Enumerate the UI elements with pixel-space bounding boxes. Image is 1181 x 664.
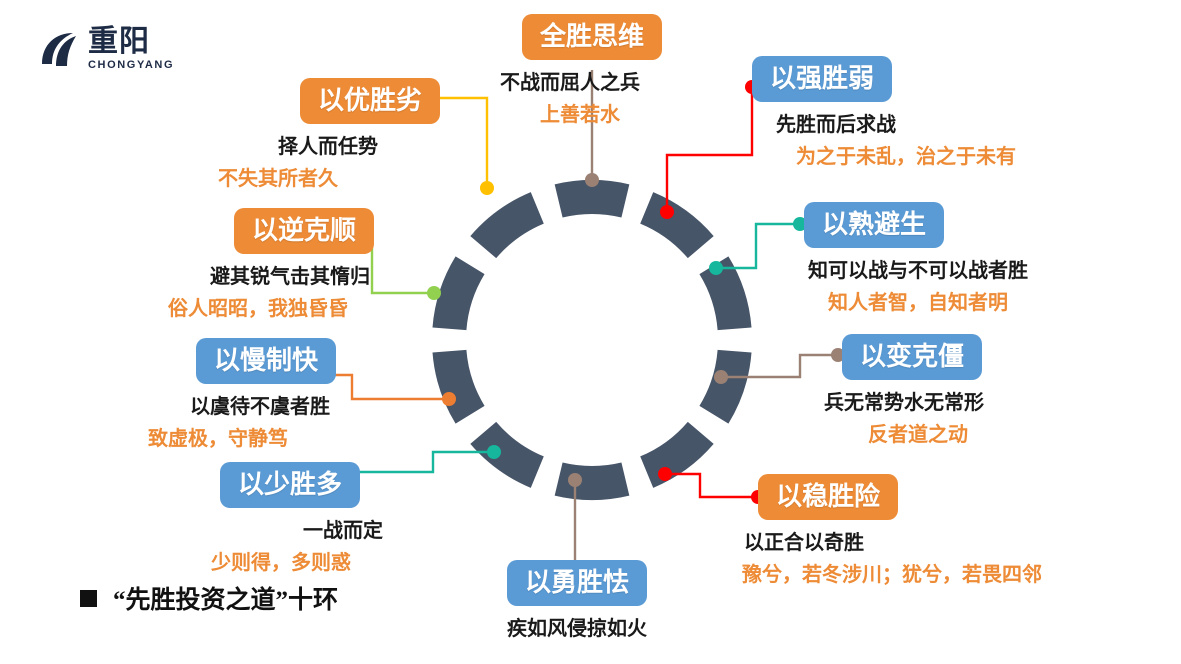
node-title-pill[interactable]: 以少胜多 [220, 462, 360, 508]
ring-segment [432, 350, 484, 424]
node-line2: 反者道之动 [868, 418, 984, 447]
node-yiwen-shengxian[interactable]: 以稳胜险 以正合以奇胜 豫兮，若冬涉川；犹兮，若畏四邻 [742, 474, 1042, 587]
connector-dot [714, 370, 728, 384]
node-title-pill[interactable]: 以慢制快 [196, 338, 336, 384]
node-title-pill[interactable]: 以强胜弱 [752, 56, 892, 102]
ring-segment [640, 422, 713, 488]
connector-dot [487, 445, 501, 459]
connector-dot [585, 173, 599, 187]
connector-dot [480, 181, 494, 195]
caption: “先胜投资之道”十环 [80, 580, 338, 616]
node-line1: 避其锐气击其惰归 [130, 260, 370, 289]
node-title-pill[interactable]: 以逆克顺 [234, 208, 374, 254]
node-line1: 以正合以奇胜 [744, 526, 1042, 555]
node-line2: 豫兮，若冬涉川；犹兮，若畏四邻 [742, 558, 1042, 587]
node-yibian-kejiang[interactable]: 以变克僵 兵无常势水无常形 反者道之动 [824, 334, 984, 447]
node-line1: 兵无常势水无常形 [824, 386, 984, 415]
node-title-pill[interactable]: 全胜思维 [522, 14, 662, 60]
node-quansheng-siwei[interactable]: 全胜思维 不战而屈人之兵 上善若水 [466, 14, 718, 127]
ring-segment [470, 192, 543, 258]
node-title-pill[interactable]: 以变克僵 [842, 334, 982, 380]
ring-segment [470, 422, 543, 488]
connector-dot [660, 205, 674, 219]
node-yiman-zhikuai[interactable]: 以慢制快 以虞待不虞者胜 致虚极，守静笃 [104, 338, 354, 451]
node-yishu-bisheng[interactable]: 以熟避生 知可以战与不可以战者胜 知人者智，自知者明 [796, 202, 1028, 315]
node-line2: 为之于未乱，治之于未有 [796, 140, 1016, 169]
node-yiyong-shengqie[interactable]: 以勇胜怯 疾如风侵掠如火 [462, 560, 692, 641]
ring-segment [699, 350, 751, 424]
ring-segment [555, 463, 630, 500]
node-title-pill[interactable]: 以稳胜险 [758, 474, 898, 520]
node-line2: 少则得，多则惑 [155, 546, 351, 575]
node-yiqiang-shengruo[interactable]: 以强胜弱 先胜而后求战 为之于未乱，治之于未有 [752, 56, 1016, 169]
node-title-pill[interactable]: 以勇胜怯 [507, 560, 647, 606]
node-line2: 知人者智，自知者明 [828, 286, 1028, 315]
node-yiyou-shenglie[interactable]: 以优胜劣 择人而任势 不失其所者久 [198, 78, 448, 191]
node-title-pill[interactable]: 以优胜劣 [300, 78, 440, 124]
node-line1: 知可以战与不可以战者胜 [808, 254, 1028, 283]
node-title-pill[interactable]: 以熟避生 [804, 202, 944, 248]
node-line2: 上善若水 [540, 98, 718, 127]
connector-dot [442, 392, 456, 406]
node-line2: 致虚极，守静笃 [104, 422, 288, 451]
node-yishao-shengduo[interactable]: 以少胜多 一战而定 少则得，多则惑 [155, 462, 405, 575]
node-line2: 不失其所者久 [198, 162, 338, 191]
ring-segment [640, 192, 713, 258]
node-line1: 一战而定 [155, 514, 383, 543]
square-bullet-icon [80, 590, 97, 607]
connector-dot [709, 261, 723, 275]
node-yini-keshun[interactable]: 以逆克顺 避其锐气击其惰归 俗人昭昭，我独昏昏 [130, 208, 374, 321]
node-line1: 择人而任势 [198, 130, 378, 159]
caption-text: “先胜投资之道”十环 [113, 580, 338, 616]
connector-dot [658, 467, 672, 481]
connector-dot [427, 286, 441, 300]
node-line1: 以虞待不虞者胜 [104, 390, 330, 419]
node-line1: 疾如风侵掠如火 [462, 612, 692, 641]
diagram-canvas: 重阳 CHONGYANG 全胜思维 不战而屈人之兵 上善若水 以强胜弱 先胜而后… [0, 0, 1181, 664]
connector-dot [568, 473, 582, 487]
node-line2: 俗人昭昭，我独昏昏 [130, 292, 348, 321]
node-line1: 先胜而后求战 [776, 108, 1016, 137]
node-line1: 不战而屈人之兵 [500, 66, 718, 95]
